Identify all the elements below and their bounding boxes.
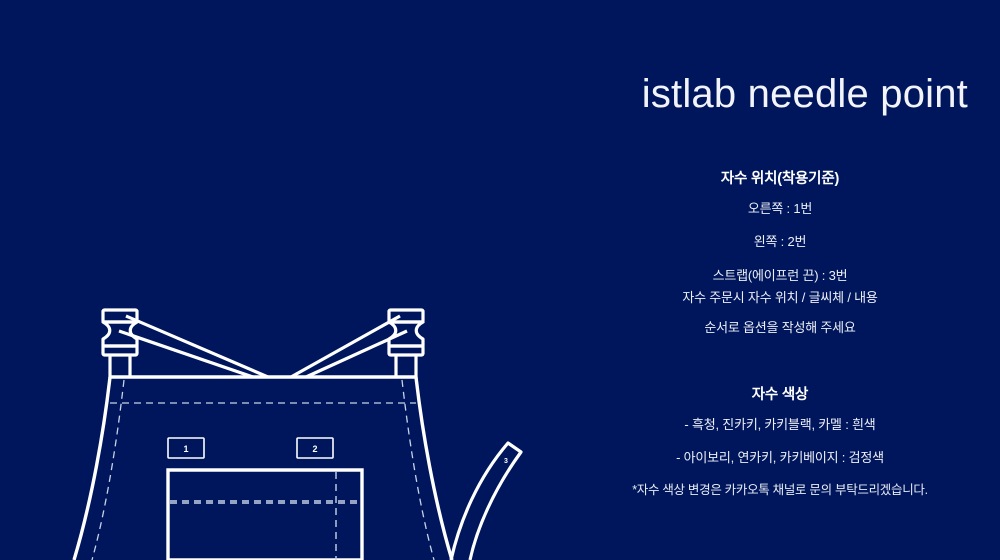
embroidery-position-heading: 자수 위치(착용기준) bbox=[560, 170, 1000, 188]
illustration-panel: 1 2 3 bbox=[0, 0, 560, 560]
marker-1-label: 1 bbox=[183, 444, 188, 454]
marker-2-label: 2 bbox=[312, 444, 317, 454]
position-line-right: 오른쪽 : 1번 bbox=[560, 201, 1000, 217]
embroidery-marker-2[interactable]: 2 bbox=[297, 438, 333, 458]
product-info-graphic: 1 2 3 istlab needle point 자수 위치(착용기준) 오른… bbox=[0, 0, 1000, 560]
embroidery-marker-3[interactable]: 3 bbox=[504, 458, 508, 465]
apron-waist-tie-strap bbox=[451, 443, 521, 560]
footnote-text: *자수 색상 변경은 카카오톡 채널로 문의 부탁드리겠습니다. bbox=[560, 482, 1000, 498]
order-instruction-line-2: 순서로 옵션을 작성해 주세요 bbox=[560, 320, 1000, 336]
apron-technical-drawing: 1 2 3 bbox=[0, 0, 560, 560]
text-panel: istlab needle point 자수 위치(착용기준) 오른쪽 : 1번… bbox=[560, 0, 1000, 560]
right-vertical-strap bbox=[396, 355, 416, 378]
embroidery-marker-1[interactable]: 1 bbox=[168, 438, 204, 458]
pocket-stitching bbox=[170, 472, 360, 560]
position-line-left: 왼쪽 : 2번 bbox=[560, 234, 1000, 250]
embroidery-color-block: 자수 색상 - 흑청, 진카키, 카키블랙, 카멜 : 흰색 - 아이보리, 연… bbox=[560, 386, 1000, 467]
brand-title: istlab needle point bbox=[560, 72, 968, 116]
apron-front-pocket bbox=[168, 470, 362, 560]
embroidery-color-heading: 자수 색상 bbox=[560, 386, 1000, 404]
marker-3-label: 3 bbox=[504, 458, 508, 465]
position-line-strap: 스트랩(에이프런 끈) : 3번 bbox=[560, 268, 1000, 284]
embroidery-position-block: 자수 위치(착용기준) 오른쪽 : 1번 왼쪽 : 2번 스트랩(에이프런 끈)… bbox=[560, 170, 1000, 284]
left-vertical-strap bbox=[110, 355, 130, 378]
color-line-black-thread: - 아이보리, 연카키, 카키베이지 : 검정색 bbox=[560, 450, 1000, 466]
footnote-block: *자수 색상 변경은 카카오톡 채널로 문의 부탁드리겠습니다. bbox=[560, 482, 1000, 498]
color-line-white-thread: - 흑청, 진카키, 카키블랙, 카멜 : 흰색 bbox=[560, 417, 1000, 433]
order-instruction-line-1: 자수 주문시 자수 위치 / 글씨체 / 내용 bbox=[560, 290, 1000, 306]
apron-cross-straps bbox=[119, 316, 407, 377]
order-instruction-block: 자수 주문시 자수 위치 / 글씨체 / 내용 순서로 옵션을 작성해 주세요 bbox=[560, 290, 1000, 337]
